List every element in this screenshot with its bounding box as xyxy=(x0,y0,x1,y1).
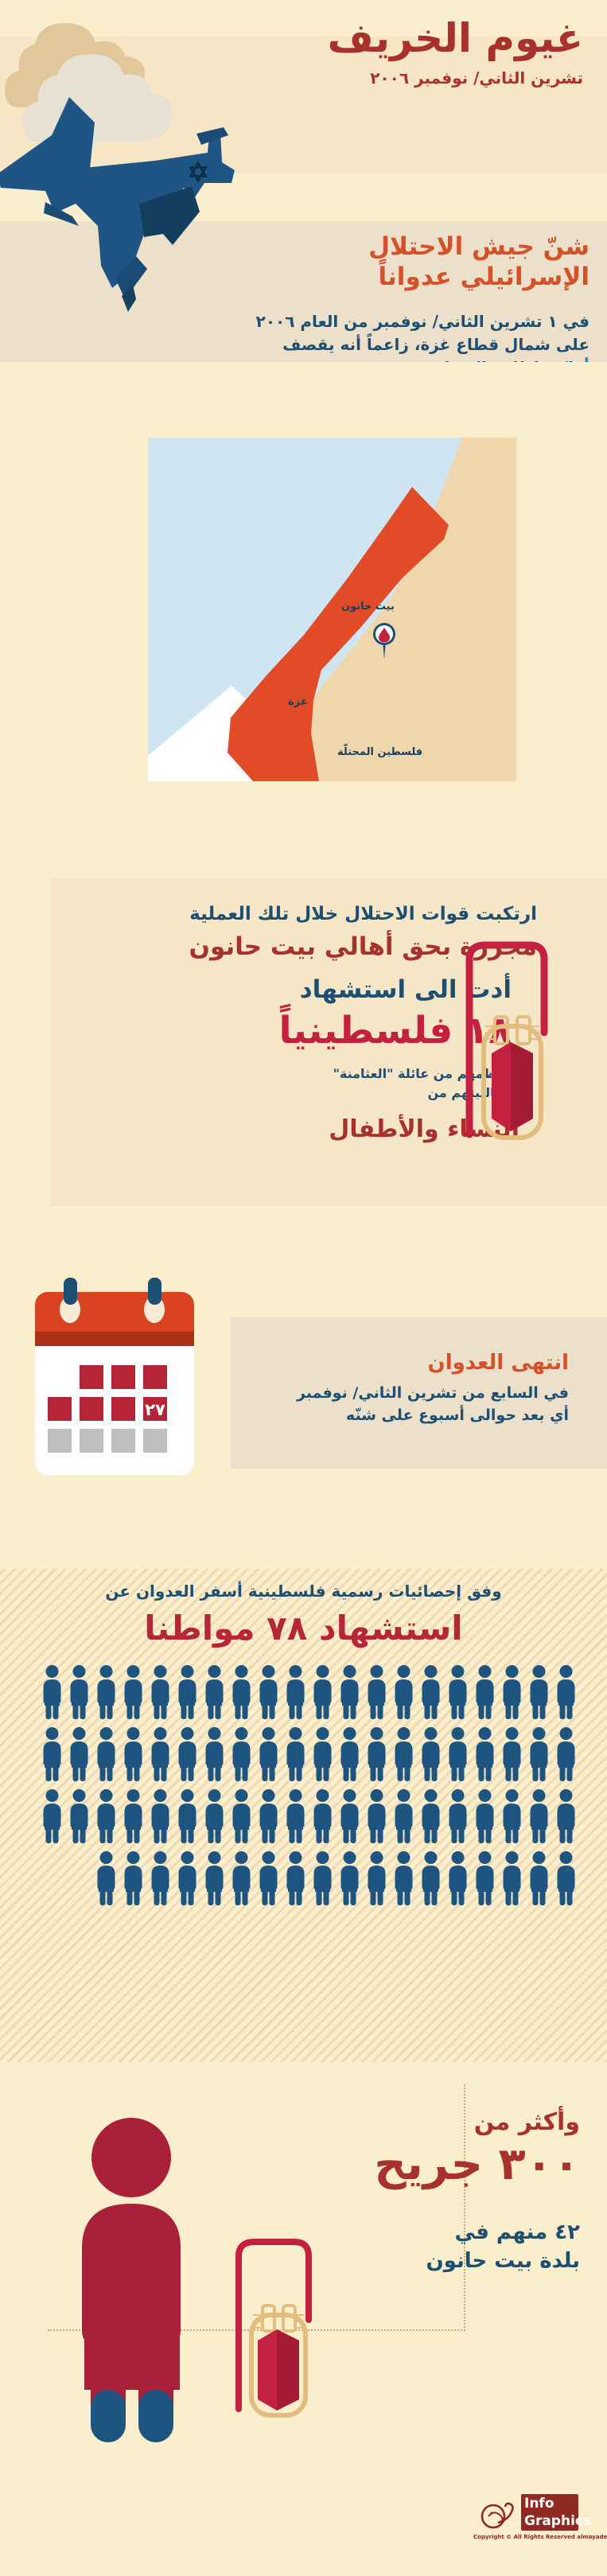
person-icon xyxy=(337,1664,363,1722)
person-icon xyxy=(201,1850,228,1908)
martyrs-subhead: وفق إحصائيات رسمية فلسطينية أسفر العدوان… xyxy=(0,1582,607,1601)
person-icon xyxy=(499,1850,525,1908)
person-icon xyxy=(93,1664,119,1722)
person-icon xyxy=(472,1788,498,1846)
person-icon xyxy=(553,1850,579,1908)
person-icon xyxy=(255,1850,282,1908)
person-icon xyxy=(391,1850,417,1908)
person-icon xyxy=(147,1788,173,1846)
person-icon xyxy=(255,1726,282,1784)
page-subtitle: تشرين الثاني/ نوفمبر ٢٠٠٦ xyxy=(169,68,583,88)
person-icon xyxy=(255,1788,282,1846)
person-icon xyxy=(418,1850,444,1908)
wounded-section: وأكثر من ٣٠٠ جريح ٤٢ منهم في بلدة بيت حا… xyxy=(0,2084,607,2498)
person-icon xyxy=(526,1850,552,1908)
person-icon xyxy=(147,1726,173,1784)
person-icon xyxy=(66,1726,92,1784)
person-icon xyxy=(445,1850,471,1908)
person-icon xyxy=(553,1788,579,1846)
person-icon xyxy=(174,1788,200,1846)
pictogram-row xyxy=(30,1664,579,1722)
person-icon xyxy=(282,1850,309,1908)
map-label-beit-hanoun: بيت حانون xyxy=(341,601,395,613)
map-label-occupied-palestine: فلسطين المحتلّة xyxy=(337,746,422,758)
person-icon xyxy=(147,1850,173,1908)
gaza-map xyxy=(148,438,516,781)
map-card: بيت حانون غزة فلسطين المحتلّة xyxy=(148,438,516,781)
person-icon xyxy=(201,1664,228,1722)
pictogram-row xyxy=(30,1726,579,1784)
person-icon xyxy=(201,1726,228,1784)
massacre-line-1: ارتكبت قوات الاحتلال خلال تلك العملية xyxy=(76,904,537,924)
person-icon xyxy=(391,1788,417,1846)
infographic-page: غيوم الخريف تشرين الثاني/ نوفمبر ٢٠٠٦ شن… xyxy=(0,0,607,2576)
person-icon xyxy=(499,1664,525,1722)
person-icon xyxy=(445,1664,471,1722)
person-icon xyxy=(553,1726,579,1784)
logo-line-2: Graphics xyxy=(524,2512,575,2530)
pictogram-row xyxy=(30,1850,579,1908)
person-icon xyxy=(526,1664,552,1722)
person-icon xyxy=(174,1850,200,1908)
pictogram-row xyxy=(30,1788,579,1846)
person-icon xyxy=(228,1726,255,1784)
person-icon xyxy=(66,1664,92,1722)
person-icon xyxy=(526,1726,552,1784)
map-section: بيت حانون غزة فلسطين المحتلّة xyxy=(0,362,607,859)
person-icon xyxy=(472,1850,498,1908)
calendar-section: ٢٧ انتهى العدوان في السابع من تشرين الثا… xyxy=(0,1238,607,1556)
person-icon xyxy=(93,1850,119,1908)
person-icon xyxy=(228,1850,255,1908)
person-icon xyxy=(364,1726,390,1784)
person-icon xyxy=(391,1726,417,1784)
person-icon xyxy=(120,1788,146,1846)
person-icon xyxy=(147,1664,173,1722)
person-icon xyxy=(364,1788,390,1846)
person-icon xyxy=(418,1788,444,1846)
calendar-headline: انتهى العدوان xyxy=(235,1351,569,1375)
person-icon xyxy=(39,1788,65,1846)
person-icon xyxy=(174,1726,200,1784)
wounded-line-3: ٤٢ منهم في بلدة بيت حانون xyxy=(238,2218,580,2276)
calendar-icon: ٢٧ xyxy=(29,1278,228,1485)
logo-text: Info Graphics xyxy=(521,2494,578,2531)
person-icon xyxy=(120,1726,146,1784)
person-icon xyxy=(282,1788,309,1846)
person-icon xyxy=(309,1726,336,1784)
person-icon xyxy=(553,1664,579,1722)
person-icon xyxy=(364,1850,390,1908)
person-icon xyxy=(337,1788,363,1846)
person-icon xyxy=(337,1726,363,1784)
massacre-section: ارتكبت قوات الاحتلال خلال تلك العملية مج… xyxy=(0,843,607,1241)
person-icon xyxy=(93,1788,119,1846)
blood-drop-pin-icon xyxy=(371,622,398,660)
person-icon xyxy=(445,1726,471,1784)
person-icon xyxy=(120,1664,146,1722)
person-icon xyxy=(255,1664,282,1722)
person-icon xyxy=(364,1664,390,1722)
person-icon xyxy=(526,1788,552,1846)
person-icon xyxy=(337,1850,363,1908)
person-icon xyxy=(472,1664,498,1722)
person-icon xyxy=(66,1788,92,1846)
person-icon xyxy=(201,1788,228,1846)
copyright-text: Copyright © All Rights Reserved almayade… xyxy=(473,2534,601,2540)
person-icon xyxy=(228,1664,255,1722)
person-icon xyxy=(309,1850,336,1908)
person-icon xyxy=(120,1850,146,1908)
logo-line-1: Info xyxy=(524,2495,575,2512)
person-icon xyxy=(499,1788,525,1846)
person-icon xyxy=(472,1726,498,1784)
martyrs-pictogram xyxy=(30,1664,579,1913)
person-icon xyxy=(418,1726,444,1784)
person-icon xyxy=(309,1664,336,1722)
person-icon xyxy=(391,1664,417,1722)
wounded-count: ٣٠٠ جريح xyxy=(238,2138,580,2190)
calendar-body: في السابع من تشرين الثاني/ نوفمبر أي بعد… xyxy=(219,1383,569,1426)
blood-bag-icon xyxy=(461,937,561,1144)
person-icon xyxy=(282,1726,309,1784)
wounded-line-1: وأكثر من xyxy=(238,2108,580,2136)
martyrs-headline: استشهاد ٧٨ مواطنا xyxy=(0,1609,607,1648)
page-title: غيوم الخريف xyxy=(169,18,583,60)
person-icon xyxy=(282,1664,309,1722)
martyrs-section: وفق إحصائيات رسمية فلسطينية أسفر العدوان… xyxy=(0,1559,607,2100)
person-icon xyxy=(93,1726,119,1784)
person-icon xyxy=(228,1788,255,1846)
person-icon xyxy=(48,2116,215,2458)
map-label-gaza: غزة xyxy=(288,696,308,708)
fighter-jet-icon xyxy=(0,86,259,348)
person-icon xyxy=(445,1788,471,1846)
footer-logo: Info Graphics Copyright © All Rights Res… xyxy=(477,2494,597,2550)
person-icon xyxy=(39,1664,65,1722)
person-icon xyxy=(39,1726,65,1784)
lead-headline: شنّ جيش الاحتلال الإسرائيلي عدواناً xyxy=(255,232,589,293)
person-icon xyxy=(174,1664,200,1722)
calligraphy-logo-icon xyxy=(481,2496,519,2531)
person-icon xyxy=(418,1664,444,1722)
calendar-marked-day: ٢٧ xyxy=(145,1400,165,1419)
person-icon xyxy=(499,1726,525,1784)
person-icon xyxy=(309,1788,336,1846)
